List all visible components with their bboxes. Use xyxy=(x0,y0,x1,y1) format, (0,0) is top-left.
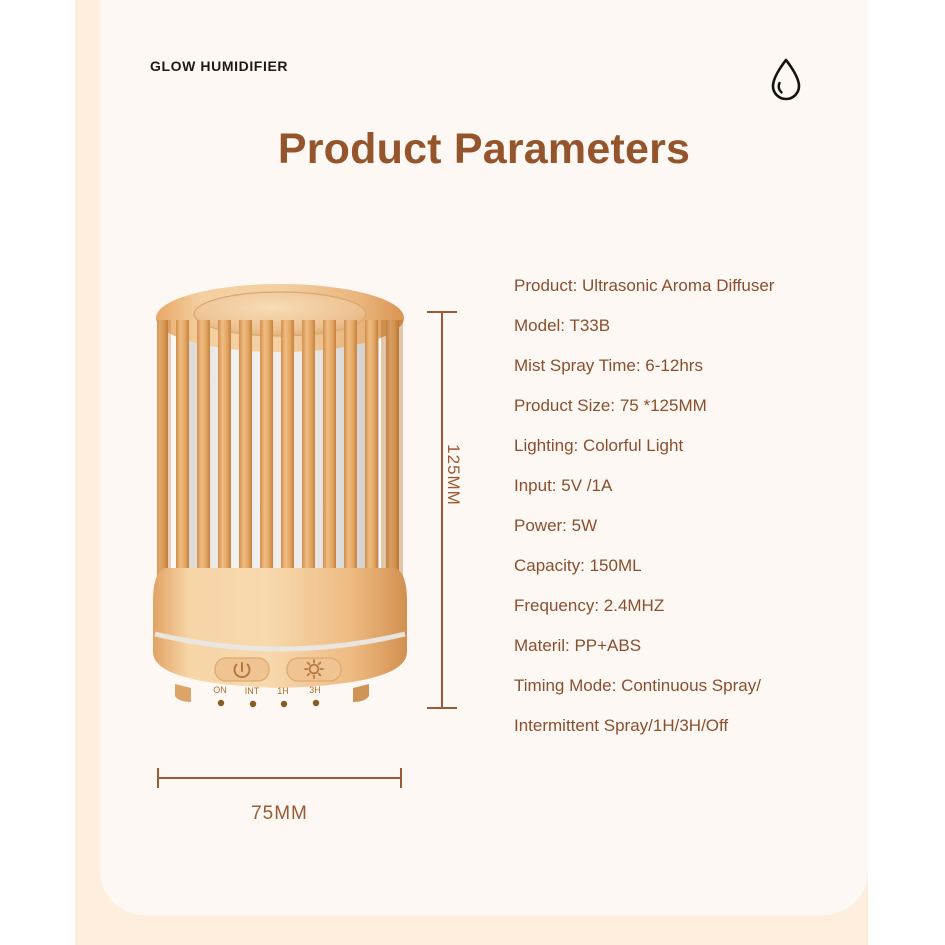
spec-item: Frequency: 2.4MHZ xyxy=(514,586,844,626)
svg-text:ON: ON xyxy=(213,685,227,695)
width-dimension-label: 75MM xyxy=(157,803,402,825)
height-dimension-label: 125MM xyxy=(443,444,463,506)
spec-item: Product Size: 75 *125MM xyxy=(514,386,844,426)
content-card: GLOW HUMIDIFIER Product Parameters xyxy=(100,0,868,915)
width-dimension-line xyxy=(157,777,402,779)
spec-item: Model: T33B xyxy=(514,306,844,346)
spec-item: Capacity: 150ML xyxy=(514,546,844,586)
page-title: Product Parameters xyxy=(100,125,868,174)
spec-item: Mist Spray Time: 6-12hrs xyxy=(514,346,844,386)
height-dimension-cap-bottom xyxy=(427,707,457,709)
specifications-list: Product: Ultrasonic Aroma Diffuser Model… xyxy=(514,266,844,746)
svg-text:1H: 1H xyxy=(277,686,289,696)
spec-item: Materil: PP+ABS xyxy=(514,626,844,666)
width-dimension-cap-right xyxy=(400,768,402,788)
spec-item: Timing Mode: Continuous Spray/ xyxy=(514,666,844,706)
water-drop-icon xyxy=(766,56,806,104)
height-dimension-line xyxy=(441,311,443,709)
page-root: GLOW HUMIDIFIER Product Parameters xyxy=(0,0,945,945)
height-dimension-cap-top xyxy=(427,311,457,313)
spec-item: Intermittent Spray/1H/3H/Off xyxy=(514,706,844,746)
power-button xyxy=(215,658,269,681)
svg-text:INT: INT xyxy=(245,686,260,696)
light-button xyxy=(287,658,341,681)
spec-item: Power: 5W xyxy=(514,506,844,546)
width-dimension-cap-left xyxy=(157,768,159,788)
spec-item: Lighting: Colorful Light xyxy=(514,426,844,466)
brand-label: GLOW HUMIDIFIER xyxy=(150,58,288,74)
svg-text:3H: 3H xyxy=(309,685,321,695)
spec-item: Product: Ultrasonic Aroma Diffuser xyxy=(514,266,844,306)
spec-item: Input: 5V /1A xyxy=(514,466,844,506)
product-image: ON INT 1H 3H xyxy=(145,272,415,732)
